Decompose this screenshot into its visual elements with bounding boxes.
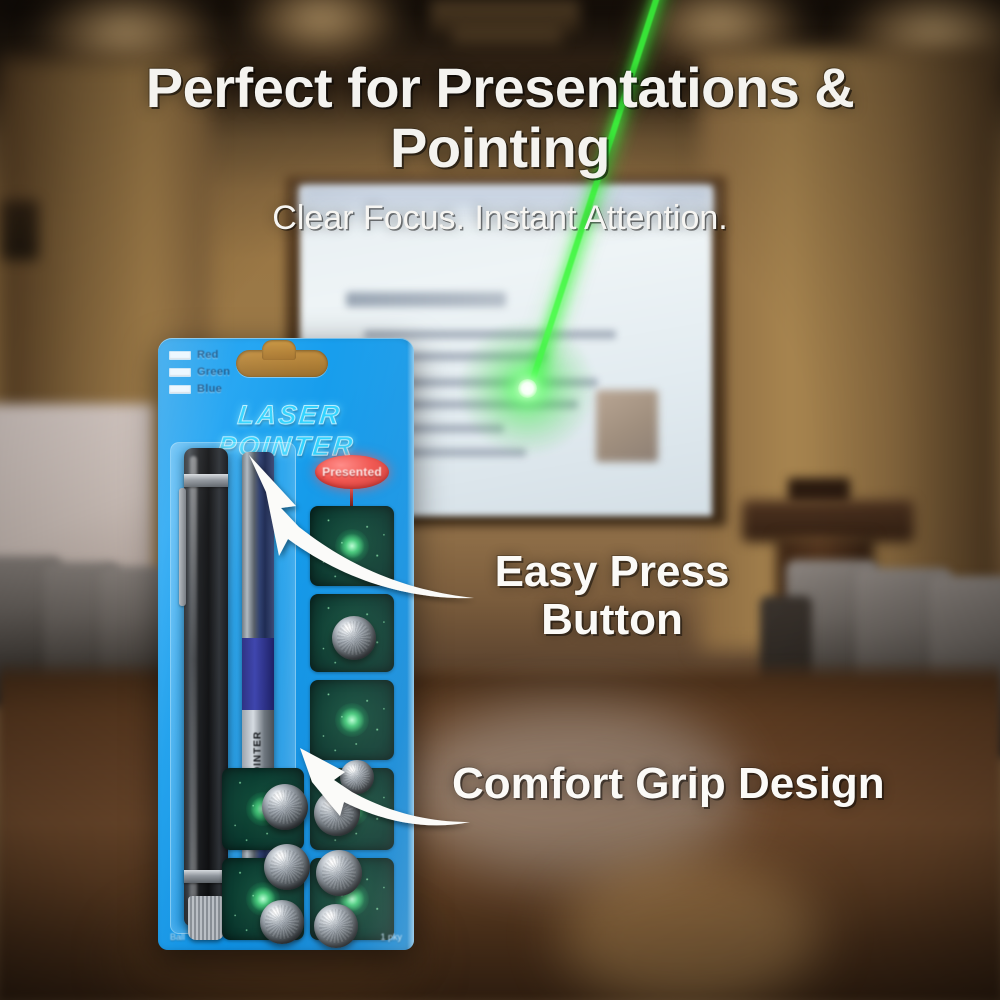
headline-line-1: Perfect for Presentations & [0,58,1000,118]
marketing-image-canvas: Red Green Blue LASER POINTER LASER POINT… [0,0,1000,1000]
color-option-blue: Blue [169,383,230,395]
package-foot-left: Ball [170,932,185,942]
laser-pattern-tile [310,680,394,760]
laser-cap-ball [316,850,362,896]
color-option-label: Red [197,349,219,361]
callout-label-easy-press-button: Easy Press Button [462,548,762,643]
laser-cap-ball [332,616,376,660]
pen-pocket-clip [179,488,186,606]
laser-cap-ball [262,784,308,830]
starburst-icon [335,529,369,563]
presented-badge: Presented [315,455,389,489]
callout-label-comfort-grip-design: Comfort Grip Design [452,760,972,808]
pen-highlight [190,456,197,908]
package-footer-text: Ball 1 pky [158,932,414,942]
checkbox-icon [169,368,191,377]
laser-cap-ball [264,844,310,890]
headline-line-2: Pointing [0,118,1000,178]
laser-pattern-tile [310,506,394,586]
color-option-label: Blue [197,383,222,395]
badge-stem [350,488,353,506]
starburst-icon [335,703,369,737]
secondary-pen-blue-section [242,638,274,710]
color-option-label: Green [197,366,230,378]
checkbox-icon [169,385,191,394]
presented-badge-label: Presented [322,465,382,479]
laser-cap-ball [340,760,374,794]
product-blister-package[interactable]: Red Green Blue LASER POINTER LASER POINT… [158,338,414,950]
package-edge-highlight [407,338,414,950]
color-option-red: Red [169,349,230,361]
pen-cap-ring [184,474,228,487]
color-options-list: Red Green Blue [169,349,230,400]
page-headline: Perfect for Presentations & Pointing [0,58,1000,178]
laser-cap-ball [314,790,360,836]
package-hang-notch [262,340,296,360]
color-option-green: Green [169,366,230,378]
checkbox-icon [169,351,191,360]
page-subtitle: Clear Focus. Instant Attention. [0,198,1000,238]
package-foot-right: 1 pky [380,932,402,942]
